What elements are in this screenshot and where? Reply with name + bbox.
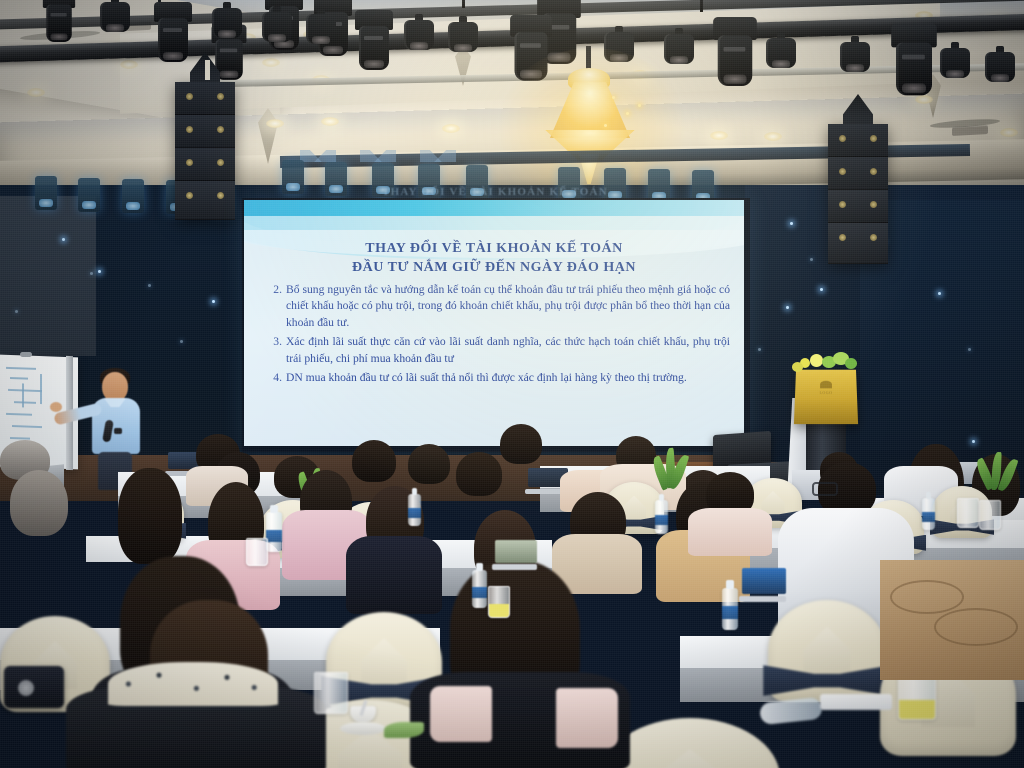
audience-head bbox=[408, 444, 450, 484]
conference-photo: THAY ĐỔI VỀ TÀI KHOẢN KẾ TOÁN THAY ĐỔI V… bbox=[0, 0, 1024, 768]
star-light bbox=[90, 272, 93, 275]
star-light bbox=[212, 300, 215, 303]
star-light bbox=[148, 284, 151, 287]
left-wall-lit-panel bbox=[0, 196, 96, 356]
water-bottle bbox=[655, 500, 668, 534]
slide-bullet-number: 3. bbox=[266, 334, 286, 367]
saucer bbox=[340, 722, 386, 735]
line-array-speaker-left bbox=[175, 82, 235, 220]
star-light bbox=[180, 340, 183, 343]
par-can-light bbox=[940, 42, 970, 82]
moving-head-light bbox=[154, 2, 192, 68]
laptop bbox=[495, 540, 537, 570]
par-can-light bbox=[306, 8, 336, 48]
audience-head bbox=[10, 470, 68, 536]
par-can-light bbox=[262, 6, 292, 46]
moving-head-light bbox=[355, 10, 393, 76]
truss-brace bbox=[300, 150, 336, 162]
podium-flower bbox=[792, 362, 803, 372]
water-glass bbox=[314, 672, 348, 714]
par-can-light bbox=[840, 36, 870, 76]
blue-stage-light bbox=[122, 179, 144, 213]
slide-bullet: 3. Xác định lãi suất thực căn cứ vào lãi… bbox=[266, 334, 730, 367]
star-light bbox=[968, 348, 971, 351]
audience-shoulder bbox=[556, 688, 618, 748]
slide-title: THAY ĐỔI VỀ TÀI KHOẢN KẾ TOÁN ĐẦU TƯ NẮM… bbox=[244, 240, 744, 278]
chair bbox=[768, 600, 886, 702]
par-can-light bbox=[448, 16, 478, 56]
light-sparkle bbox=[604, 124, 607, 127]
water-glass bbox=[246, 538, 268, 566]
star-light bbox=[790, 222, 793, 225]
water-glass bbox=[957, 498, 979, 528]
audience-head bbox=[352, 440, 396, 482]
hanger-rod bbox=[700, 0, 703, 12]
line-array-speaker-right bbox=[828, 124, 888, 264]
star-light bbox=[810, 258, 813, 261]
carpet bbox=[880, 560, 1024, 680]
light-sparkle bbox=[612, 96, 615, 99]
presenter-hand bbox=[50, 402, 62, 412]
truss-brace bbox=[420, 150, 456, 162]
audience-body bbox=[688, 508, 772, 556]
projection-slide: THAY ĐỔI VỀ TÀI KHOẢN KẾ TOÁN ĐẦU TƯ NẮM… bbox=[244, 200, 744, 446]
slide-bullet: 4. DN mua khoản đầu tư có lãi suất thả n… bbox=[266, 370, 730, 386]
blue-stage-light bbox=[78, 178, 100, 212]
star-light bbox=[972, 440, 975, 443]
light-sparkle bbox=[626, 112, 629, 115]
par-can-light bbox=[985, 46, 1015, 86]
audience-collar-pattern bbox=[108, 662, 278, 710]
audience-head bbox=[500, 424, 542, 464]
moving-head-light bbox=[43, 0, 75, 47]
audience-body bbox=[346, 536, 442, 614]
star-light bbox=[758, 348, 761, 351]
podium: LOGO bbox=[794, 370, 858, 424]
water-bottle bbox=[472, 570, 487, 608]
handbag bbox=[4, 666, 64, 708]
par-can-light bbox=[664, 28, 694, 68]
eyeglasses bbox=[812, 482, 838, 496]
whiteboard-clip bbox=[20, 352, 32, 357]
speaker-bracket bbox=[205, 60, 210, 80]
moving-head-light bbox=[713, 17, 757, 93]
slide-bullet: 2. Bổ sung nguyên tắc và hướng dẫn kế to… bbox=[266, 282, 730, 331]
laptop bbox=[742, 568, 786, 602]
audience-head bbox=[118, 468, 182, 564]
slide-bullet-number: 2. bbox=[266, 282, 286, 331]
slide-bullet-text: Bổ sung nguyên tắc và hướng dẫn kế toán … bbox=[286, 282, 730, 331]
water-bottle bbox=[266, 512, 282, 552]
light-sparkle bbox=[638, 104, 641, 107]
blue-stage-light bbox=[35, 176, 57, 210]
podium-flower bbox=[845, 358, 857, 369]
backdrop-banner-text: THAY ĐỔI VỀ TÀI KHOẢN KẾ TOÁN bbox=[250, 186, 740, 198]
napkin bbox=[820, 694, 892, 710]
slide-bullet-number: 4. bbox=[266, 370, 286, 386]
podium-logo-text: LOGO bbox=[811, 390, 841, 395]
star-light bbox=[98, 270, 101, 273]
podium-logo: LOGO bbox=[811, 381, 841, 398]
slide-title-line1: THAY ĐỔI VỀ TÀI KHOẢN KẾ TOÁN bbox=[365, 241, 623, 256]
par-can-light bbox=[100, 0, 130, 36]
juice-glass bbox=[488, 586, 510, 618]
hanger-rod bbox=[462, 0, 465, 8]
par-can-light bbox=[766, 32, 796, 72]
slide-title-line2: ĐẦU TƯ NẮM GIỮ ĐẾN NGÀY ĐÁO HẠN bbox=[244, 259, 744, 278]
star-light bbox=[15, 310, 18, 313]
slide-bullet-text: DN mua khoản đầu tư có lãi suất thả nổi … bbox=[286, 370, 730, 386]
par-can-light bbox=[212, 2, 242, 42]
water-bottle bbox=[408, 494, 421, 526]
water-glass bbox=[979, 500, 1001, 530]
moving-head-light bbox=[891, 23, 937, 102]
audience-head bbox=[456, 452, 502, 496]
water-bottle bbox=[922, 498, 935, 530]
star-light bbox=[820, 288, 823, 291]
water-bottle bbox=[722, 588, 738, 630]
leaf-garnish bbox=[384, 722, 424, 738]
slide-bullet-text: Xác định lãi suất thực căn cứ vào lãi su… bbox=[286, 334, 730, 367]
par-can-light bbox=[404, 14, 434, 54]
audience-shoulder bbox=[430, 686, 492, 742]
star-light bbox=[786, 306, 789, 309]
star-light bbox=[938, 292, 941, 295]
truss-brace bbox=[360, 150, 396, 162]
star-light bbox=[62, 238, 65, 241]
wristwatch bbox=[114, 428, 122, 434]
crystal-chandelier bbox=[520, 64, 660, 184]
slide-body: 2. Bổ sung nguyên tắc và hướng dẫn kế to… bbox=[266, 282, 730, 390]
